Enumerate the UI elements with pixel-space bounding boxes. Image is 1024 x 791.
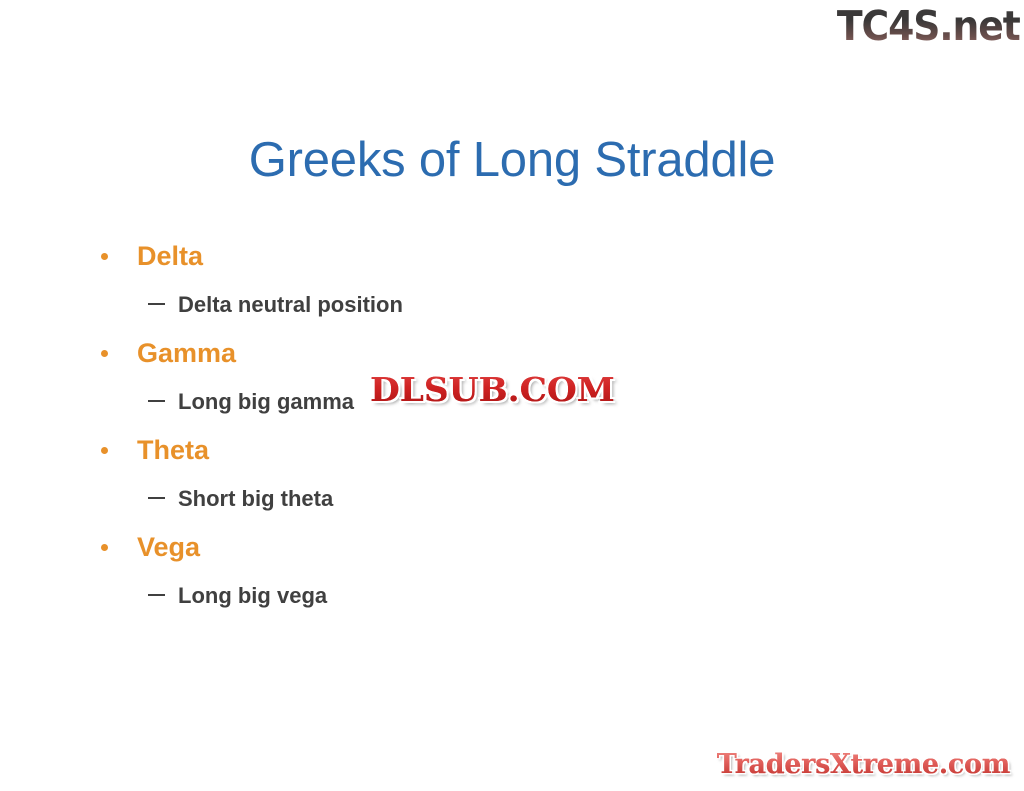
presentation-slide: TC4S.net Greeks of Long Straddle Delta D…	[0, 0, 1024, 791]
sub-bullet-label: Delta neutral position	[178, 291, 403, 318]
sub-bullet-label: Short big theta	[178, 485, 333, 512]
bullet-group-vega: Vega Long big vega	[0, 523, 1024, 620]
sub-bullet-label: Long big gamma	[178, 388, 354, 415]
tc4s-brand-logo: TC4S.net	[837, 2, 1020, 50]
bullet-dash-icon	[148, 497, 165, 499]
sub-bullet-item-short-big-theta: Short big theta	[0, 474, 1024, 523]
bullet-item-theta: Theta	[0, 426, 1024, 474]
bullet-label: Vega	[137, 531, 200, 563]
sub-bullet-item-long-big-vega: Long big vega	[0, 571, 1024, 620]
bullet-label: Delta	[137, 240, 203, 272]
tradersxtreme-brand-logo: TradersXtreme.com TradersXtreme.com	[717, 748, 1010, 782]
bullet-label: Theta	[137, 434, 209, 466]
bullet-dot-icon	[101, 350, 108, 357]
bullet-item-delta: Delta	[0, 232, 1024, 280]
slide-title: Greeks of Long Straddle	[0, 131, 1024, 189]
bullet-dash-icon	[148, 400, 165, 402]
bullet-dash-icon	[148, 303, 165, 305]
dlsub-watermark: DLSUB.COM DLSUB.COM	[370, 370, 615, 410]
bullet-dash-icon	[148, 594, 165, 596]
sub-bullet-item-delta-neutral: Delta neutral position	[0, 280, 1024, 329]
dlsub-watermark-fill: DLSUB.COM	[370, 370, 615, 410]
sub-bullet-label: Long big vega	[178, 582, 327, 609]
bullet-dot-icon	[101, 253, 108, 260]
tradersxtreme-logo-fill: TradersXtreme.com	[717, 748, 1010, 782]
bullet-dot-icon	[101, 544, 108, 551]
bullet-dot-icon	[101, 447, 108, 454]
bullet-label: Gamma	[137, 337, 236, 369]
bullet-group-delta: Delta Delta neutral position	[0, 232, 1024, 329]
bullet-item-vega: Vega	[0, 523, 1024, 571]
bullet-group-theta: Theta Short big theta	[0, 426, 1024, 523]
bullet-list: Delta Delta neutral position Gamma Long …	[0, 232, 1024, 620]
